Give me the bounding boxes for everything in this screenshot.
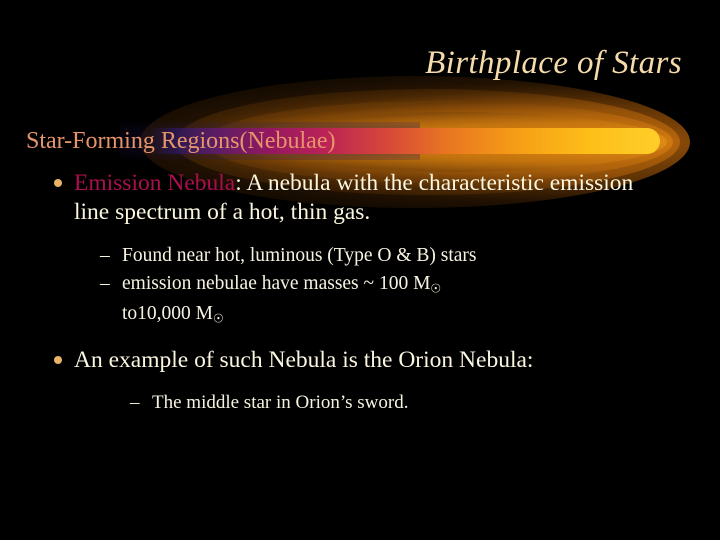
solar-mass-symbol-icon: ☉ [430,281,441,295]
spacer [0,374,720,388]
section-heading: Star-Forming Regions(Nebulae) [26,126,720,156]
sub-bullet-text: emission nebulae have masses ~ 100 M [122,273,430,294]
en-dash-icon: – [130,391,140,415]
en-dash-icon: – [100,271,110,296]
bullet-item: An example of such Nebula is the Orion N… [46,346,634,375]
en-dash-icon: – [100,243,110,268]
sub-bullet-text: Found near hot, luminous (Type O & B) st… [122,245,476,266]
bullet-text: An example of such Nebula is the Orion N… [74,347,533,373]
spacer [0,156,720,165]
spacer [0,332,720,342]
sub-bullet-item: –emission nebulae have masses ~ 100 M☉to… [100,271,642,332]
sub-bullet-item: – Found near hot, luminous (Type O & B) … [100,243,642,268]
page-title: Birthplace of Stars [0,44,704,82]
bullet-keyword: Emission Nebula [74,170,235,196]
bullet-dot-icon [54,179,62,187]
bullet-dot-icon [54,356,62,364]
slide-canvas: Birthplace of Stars Star-Forming Regions… [0,0,720,540]
sub-bullet-item: –The middle star in Orion’s sword. [130,391,622,415]
sub-bullet-text: The middle star in Orion’s sword. [152,392,408,413]
slide-body: Star-Forming Regions(Nebulae) Emission N… [0,126,720,415]
bullet-item: Emission Nebula: A nebula with the chara… [46,169,634,226]
bullet-separator: : [235,170,246,196]
solar-mass-symbol-icon: ☉ [213,312,224,326]
spacer [0,226,720,240]
sub-bullet-text-line2: to10,000 M [122,303,213,324]
